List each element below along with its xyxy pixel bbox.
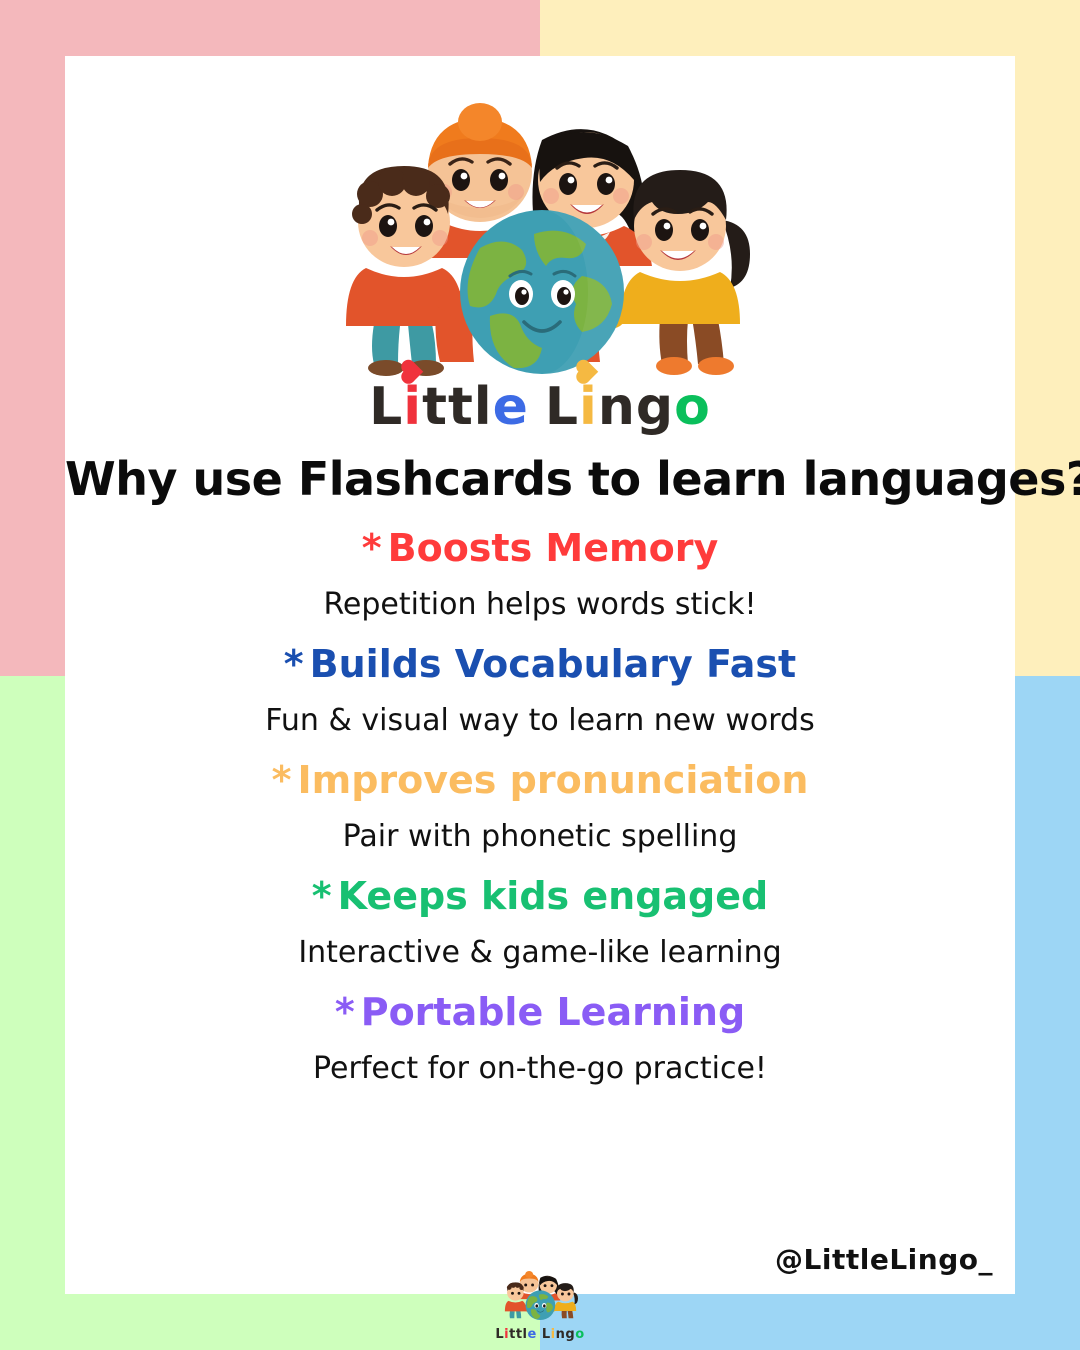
mini-logo-letter-7: L [542,1327,551,1342]
footer-mini-logo-wordmark: Little Lingo [480,1327,600,1342]
benefit-title-1: *Builds Vocabulary Fast [65,640,1015,689]
benefit-title-4: *Portable Learning [65,988,1015,1037]
benefit-subtitle-4: Perfect for on-the-go practice! [65,1049,1015,1090]
white-content-card: LittleLingo Why use Flashcards to learn … [65,56,1015,1294]
benefit-title-text-2: Improves pronunciation [297,758,808,802]
brand-logo-wordmark: LittleLingo [65,381,1015,433]
mini-logo-letter-3: t [516,1327,523,1342]
logo-letter-5: e [493,381,529,433]
benefit-title-text-4: Portable Learning [361,990,745,1034]
mini-logo-letter-2: t [509,1327,516,1342]
mini-logo-letter-10: g [565,1327,575,1342]
benefit-subtitle-3: Interactive & game-like learning [65,933,1015,974]
benefit-subtitle-0: Repetition helps words stick! [65,585,1015,626]
logo-letter-3: t [448,381,474,433]
poster-canvas: LittleLingo Why use Flashcards to learn … [0,0,1080,1350]
benefit-item-0: *Boosts MemoryRepetition helps words sti… [65,524,1015,626]
children-globe-illustration [65,80,1015,380]
logo-letter-10: g [636,381,674,433]
page-title: Why use Flashcards to learn languages? [65,452,1015,506]
mini-logo-letter-9: n [556,1327,566,1342]
bullet-star-icon: * [312,872,332,921]
logo-letter-7: L [545,381,579,433]
logo-letter-0: L [369,381,403,433]
benefit-title-text-1: Builds Vocabulary Fast [310,642,797,686]
logo-letter-1: i [403,381,422,433]
benefit-title-0: *Boosts Memory [65,524,1015,573]
mini-logo-letter-0: L [495,1327,504,1342]
benefit-title-3: *Keeps kids engaged [65,872,1015,921]
logo-letter-4: l [474,381,493,433]
benefit-item-4: *Portable LearningPerfect for on-the-go … [65,988,1015,1090]
children-globe-mini-icon [502,1266,578,1322]
logo-letter-11: o [674,381,711,433]
benefit-title-text-3: Keeps kids engaged [338,874,769,918]
benefit-subtitle-2: Pair with phonetic spelling [65,817,1015,858]
logo-letter-8: i [579,381,598,433]
bullet-star-icon: * [362,524,382,573]
benefit-item-2: *Improves pronunciationPair with phoneti… [65,756,1015,858]
bullet-star-icon: * [284,640,304,689]
benefit-item-3: *Keeps kids engagedInteractive & game-li… [65,872,1015,974]
smiling-globe [460,210,624,374]
children-globe-icon [330,80,750,380]
benefit-title-2: *Improves pronunciation [65,756,1015,805]
benefits-list: *Boosts MemoryRepetition helps words sti… [65,524,1015,1103]
benefit-subtitle-1: Fun & visual way to learn new words [65,701,1015,742]
footer-mini-logo: Little Lingo [480,1266,600,1342]
benefit-title-text-0: Boosts Memory [388,526,719,570]
logo-letter-2: t [422,381,448,433]
benefit-item-1: *Builds Vocabulary FastFun & visual way … [65,640,1015,742]
mini-logo-letter-11: o [575,1327,584,1342]
logo-letter-9: n [598,381,636,433]
social-handle: @LittleLingo_ [775,1243,993,1276]
bullet-star-icon: * [335,988,355,1037]
mini-logo-letter-5: e [528,1327,537,1342]
bullet-star-icon: * [272,756,292,805]
